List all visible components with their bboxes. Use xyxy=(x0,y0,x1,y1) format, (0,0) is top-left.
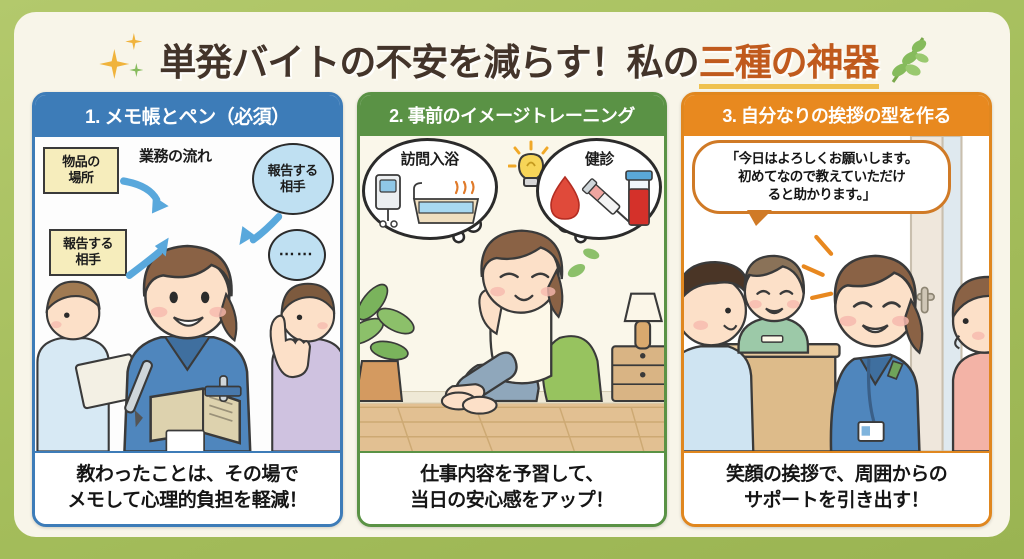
infographic-root: 単発バイトの不安を減らす！私の三種の神器 1. メモ帳とペン（必須） xyxy=(0,0,1024,559)
page-title: 単発バイトの不安を減らす！私の三種の神器 xyxy=(159,32,878,86)
panel-1-header: 1. メモ帳とペン（必須） xyxy=(35,95,340,137)
panel-2-caption: 仕事内容を予習して、 当日の安心感をアップ！ xyxy=(360,451,665,524)
panel-1-caption: 教わったことは、その場で メモして心理的負担を軽減！ xyxy=(35,451,340,524)
thought-bubble-home-bath: 訪問入浴 xyxy=(362,138,498,240)
label-workflow: 業務の流れ xyxy=(139,145,212,166)
panel-2-header: 2. 事前のイメージトレーニング xyxy=(360,95,665,136)
bubble-dots: ⋯⋯ xyxy=(268,229,326,281)
panel-1-caption-line2: メモして心理的負担を軽減！ xyxy=(67,490,307,511)
leaf-sprig-icon xyxy=(883,32,929,86)
panel-1-illustration: 物品の場所 業務の流れ 報告する相手 ⋯⋯ 報告する相手 xyxy=(35,137,340,451)
panel-3[interactable]: 3. 自分なりの挨拶の型を作る xyxy=(681,92,992,527)
panel-3-caption-line2: サポートを引き出す！ xyxy=(744,490,929,511)
page-title-emphasis: 三種の神器 xyxy=(699,42,879,89)
speech-line-1: 「今日はよろしくお願いします。 xyxy=(726,151,918,166)
speech-line-3: ると助かります。」 xyxy=(768,187,876,202)
sparkle-icon xyxy=(95,29,155,89)
home-bath-icons xyxy=(370,169,490,231)
panel-1[interactable]: 1. メモ帳とペン（必須） xyxy=(32,92,343,527)
sticky-note-item-location: 物品の場所 xyxy=(43,147,119,194)
panel-3-header: 3. 自分なりの挨拶の型を作る xyxy=(684,95,989,136)
thought-bubble-home-bath-label: 訪問入浴 xyxy=(401,148,459,169)
panel-2[interactable]: 2. 事前のイメージトレーニング xyxy=(357,92,668,527)
panel-1-caption-line1: 教わったことは、その場で xyxy=(76,464,298,485)
panel-2-caption-line1: 仕事内容を予習して、 xyxy=(420,464,603,485)
panel-3-caption-line1: 笑顔の挨拶で、周囲からの xyxy=(726,464,947,485)
panel-3-caption: 笑顔の挨拶で、周囲からの サポートを引き出す！ xyxy=(684,451,989,524)
speech-bubble-greeting: 「今日はよろしくお願いします。 初めてなので教えていただけ ると助かります。」 xyxy=(692,140,951,214)
thought-bubble-health-check: 健診 xyxy=(536,138,662,240)
speech-line-2: 初めてなので教えていただけ xyxy=(738,169,905,184)
bubble-report-contact: 報告する相手 xyxy=(252,143,334,215)
panel-container: 1. メモ帳とペン（必須） xyxy=(32,92,992,527)
health-check-icons xyxy=(543,169,655,231)
sticky-note-report-contact: 報告する相手 xyxy=(49,229,127,276)
page-title-row: 単発バイトの不安を減らす！私の三種の神器 xyxy=(14,26,1010,92)
inner-card: 単発バイトの不安を減らす！私の三種の神器 1. メモ帳とペン（必須） xyxy=(14,12,1010,537)
panel-2-caption-line2: 当日の安心感をアップ！ xyxy=(410,490,614,511)
panel-3-illustration: 「今日はよろしくお願いします。 初めてなので教えていただけ ると助かります。」 xyxy=(684,136,989,451)
panel-2-illustration: 訪問入浴 xyxy=(360,136,665,451)
thought-bubble-health-check-label: 健診 xyxy=(585,148,614,169)
page-title-main: 単発バイトの不安を減らす！私の xyxy=(159,42,698,83)
